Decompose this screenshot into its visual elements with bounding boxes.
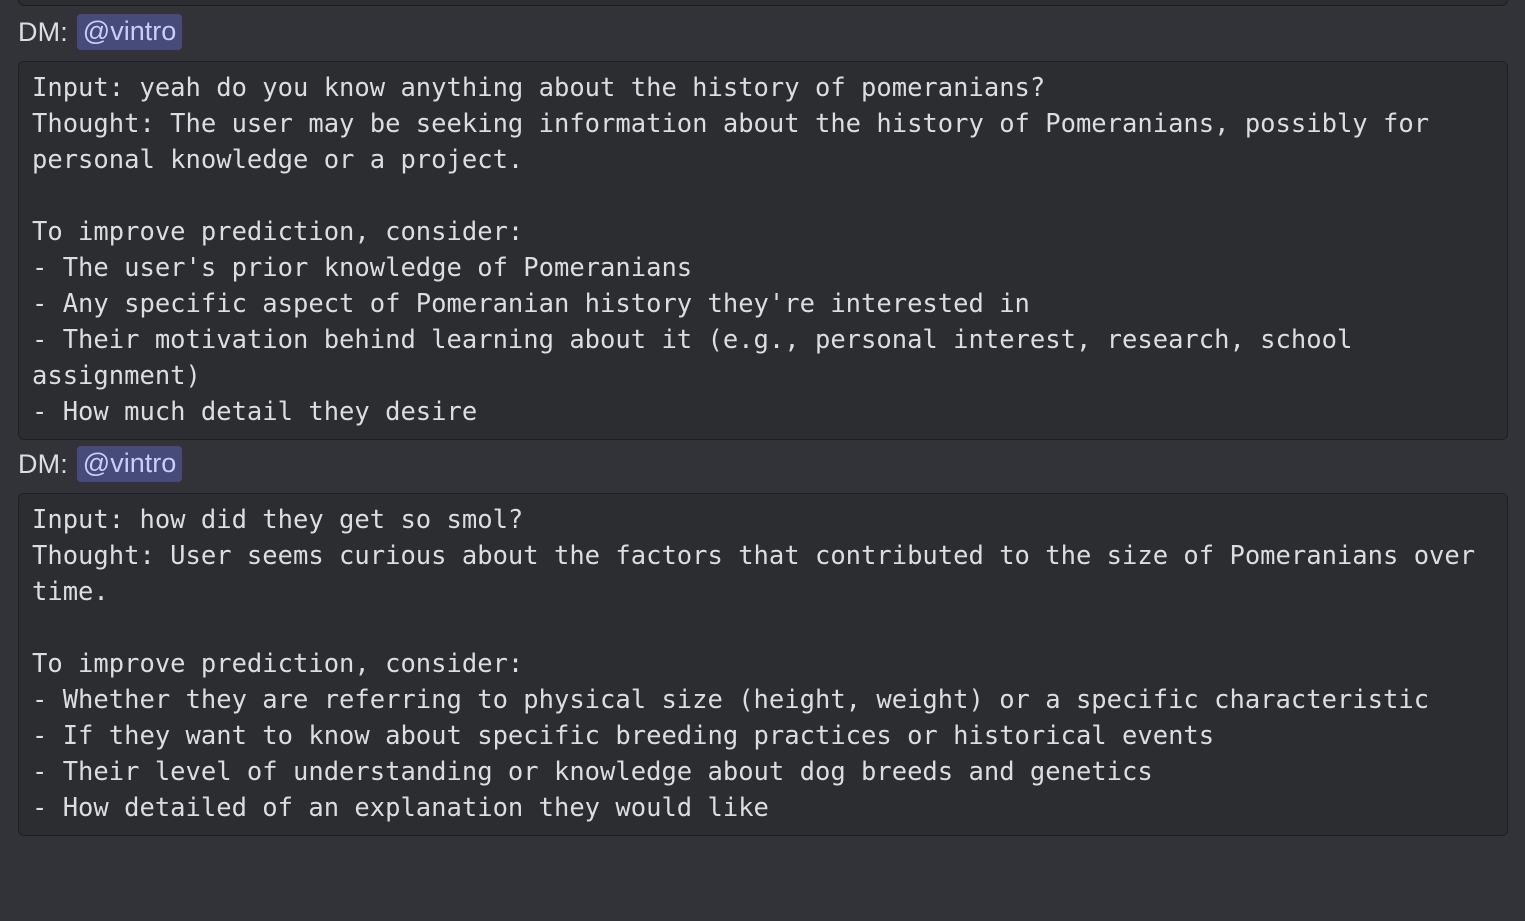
dm-label: DM:: [18, 451, 68, 478]
dm-label: DM:: [18, 19, 68, 46]
codeblock-1-text: Input: yeah do you know anything about t…: [32, 70, 1498, 430]
user-mention-vintro[interactable]: @vintro: [77, 446, 182, 482]
message-group-2: DM: @vintro Input: how did they get so s…: [0, 440, 1525, 836]
codeblock-2-text: Input: how did they get so smol? Thought…: [32, 502, 1498, 826]
codeblock-1: Input: yeah do you know anything about t…: [18, 61, 1508, 440]
user-mention-vintro[interactable]: @vintro: [77, 14, 182, 50]
previous-codeblock-stub: [18, 0, 1508, 6]
message-feed: DM: @vintro Input: yeah do you know anyt…: [0, 8, 1525, 836]
codeblock-2: Input: how did they get so smol? Thought…: [18, 493, 1508, 836]
message-header-2: DM: @vintro: [0, 440, 1525, 488]
message-group-1: DM: @vintro Input: yeah do you know anyt…: [0, 8, 1525, 440]
message-header-1: DM: @vintro: [0, 8, 1525, 56]
